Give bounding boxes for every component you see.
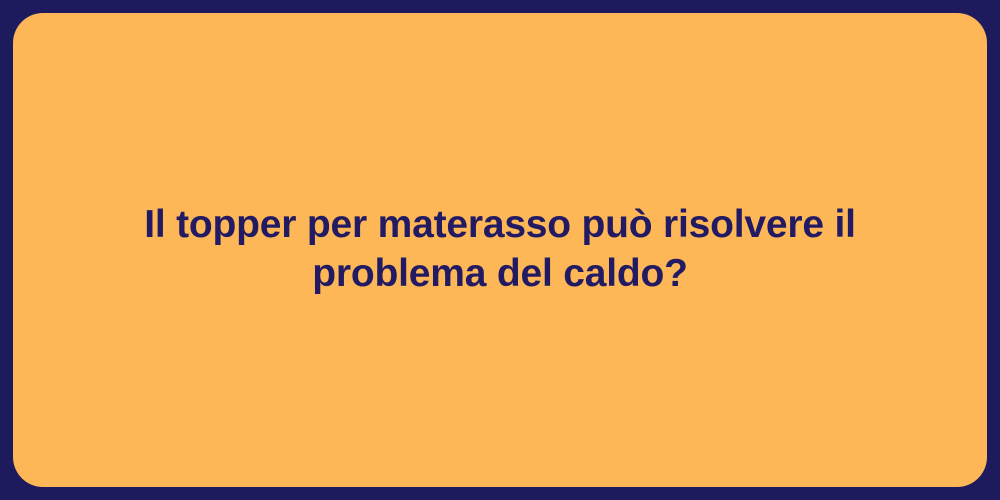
card-frame: Il topper per materasso può risolvere il… [0,0,1000,500]
page-title: Il topper per materasso può risolvere il… [53,201,947,299]
card-panel: Il topper per materasso può risolvere il… [13,13,987,487]
